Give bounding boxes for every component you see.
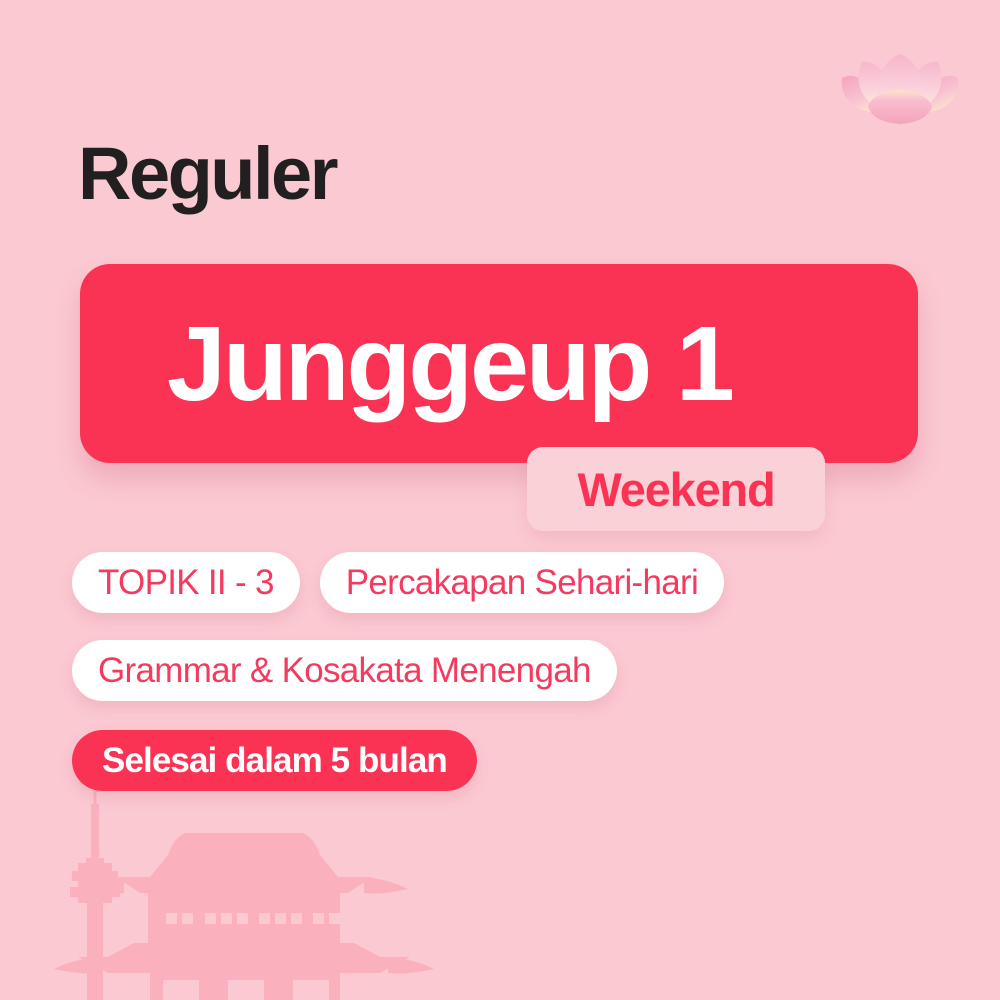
feature-pill-row: Selesai dalam 5 bulan (72, 730, 477, 791)
duration-pill: Selesai dalam 5 bulan (72, 730, 477, 791)
feature-pill-label: Grammar & Kosakata Menengah (98, 651, 591, 691)
gwanghwamun-gate-silhouette (54, 833, 434, 1000)
course-title-card: Junggeup 1 (80, 264, 918, 463)
feature-pill: Percakapan Sehari-hari (320, 552, 724, 613)
feature-pill-row: Grammar & Kosakata Menengah (72, 640, 617, 701)
feature-pill: Grammar & Kosakata Menengah (72, 640, 617, 701)
duration-pill-label: Selesai dalam 5 bulan (102, 741, 447, 781)
feature-pill: TOPIK II - 3 (72, 552, 300, 613)
lotus-flower-logo (836, 42, 964, 126)
feature-pill-label: Percakapan Sehari-hari (346, 563, 698, 603)
course-title: Junggeup 1 (80, 311, 732, 417)
feature-pill-row: TOPIK II - 3 Percakapan Sehari-hari (72, 552, 724, 613)
schedule-badge-label: Weekend (577, 466, 774, 513)
feature-pill-label: TOPIK II - 3 (98, 563, 274, 603)
page-title: Reguler (78, 137, 336, 211)
schedule-badge: Weekend (527, 447, 825, 531)
poster-canvas: Reguler Junggeup 1 Weekend TOPIK II - 3 … (0, 0, 1000, 1000)
